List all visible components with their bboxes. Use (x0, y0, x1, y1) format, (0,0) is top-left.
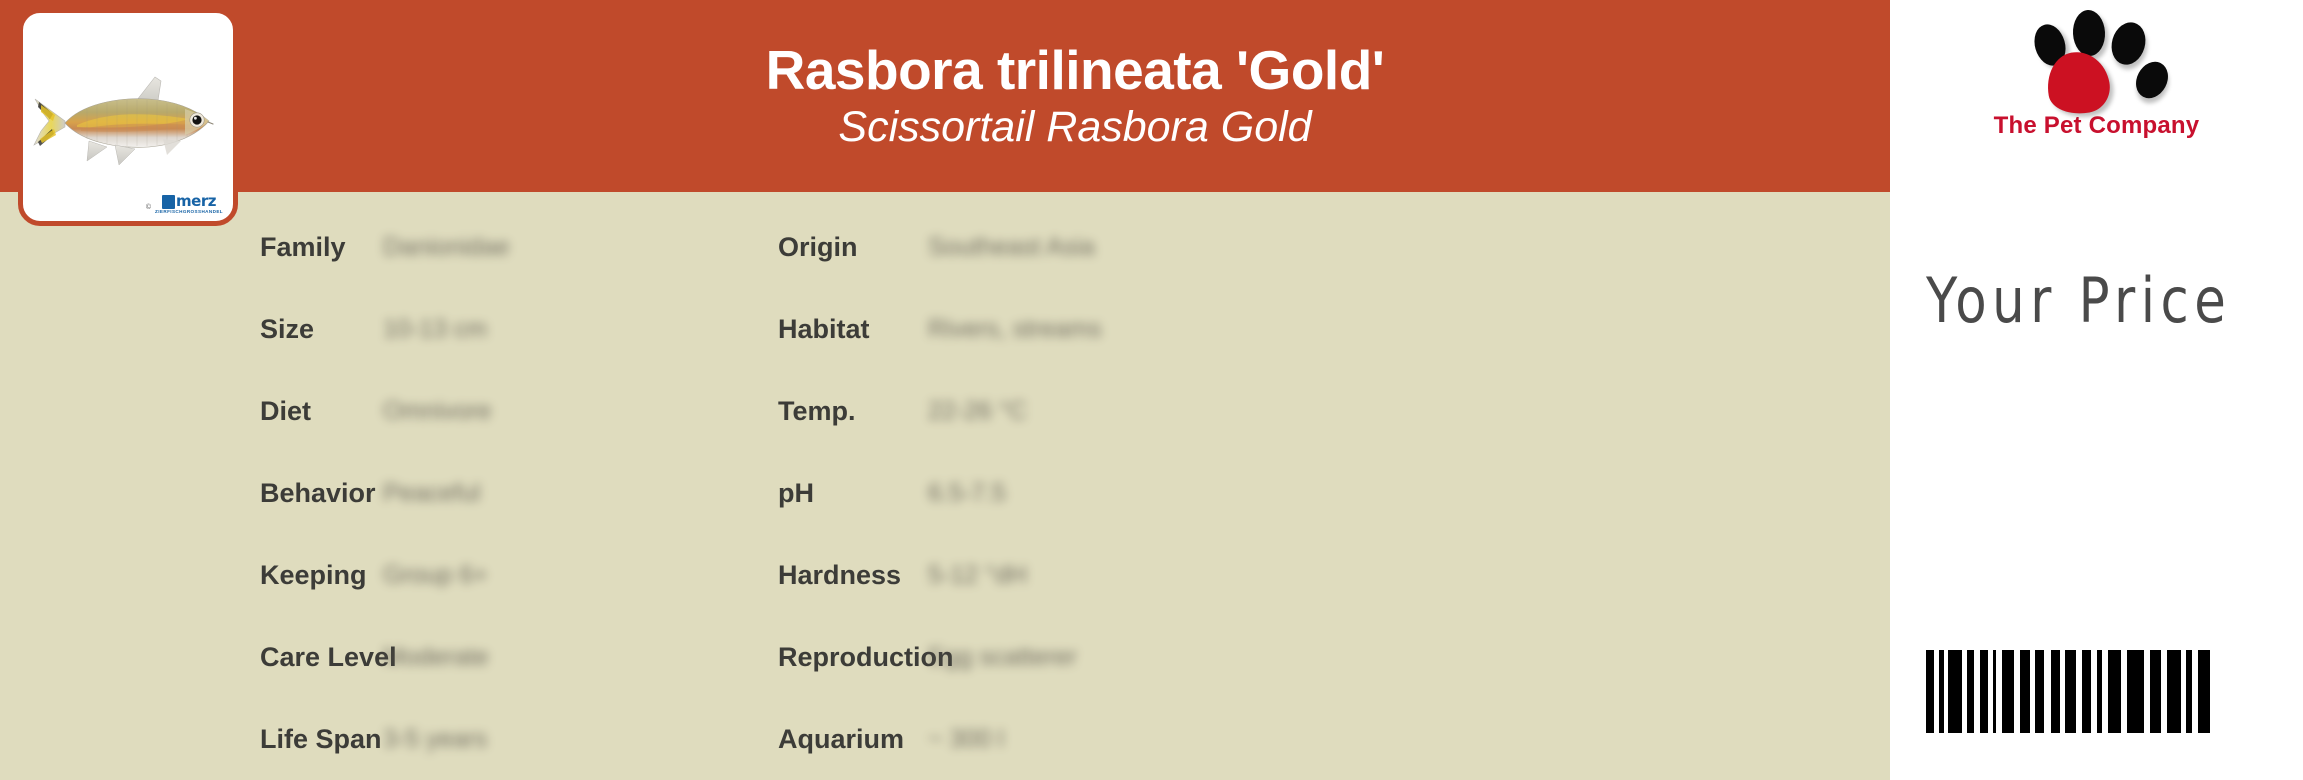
barcode-bar (2065, 650, 2076, 733)
barcode-bar (2035, 650, 2044, 733)
brand-name: The Pet Company (1994, 112, 2200, 140)
fish-info-label: Rasbora trilineata 'Gold' Scissortail Ra… (0, 0, 2303, 780)
barcode-bar (2108, 650, 2121, 733)
attribute-value-ph: 6.5-7.5 (928, 481, 1006, 506)
merz-logo-icon (162, 195, 175, 209)
barcode-bar (2051, 650, 2060, 733)
barcode-bar (2002, 650, 2014, 733)
attribute-row-reproduction: Reproduction Egg scatterer (778, 616, 1538, 698)
attribute-label-habitat: Habitat (778, 316, 903, 343)
attribute-label-care-level: Care Level (260, 644, 397, 671)
barcode-bar (2020, 650, 2030, 733)
brand-logo: The Pet Company (1890, 4, 2303, 164)
your-price-heading: Your Price (1926, 264, 2231, 337)
attribute-grid: Family Danionidae Size 10-13 cm Diet Omn… (260, 192, 1890, 780)
paw-print-icon (2017, 4, 2177, 116)
merz-subtitle: ZIERFISCHGROSSHANDEL (155, 210, 223, 215)
merz-wordmark: merz (176, 194, 216, 209)
attribute-label-behavior: Behavior (260, 480, 385, 507)
common-name: Scissortail Rasbora Gold (838, 103, 1311, 151)
attribute-label-origin: Origin (778, 234, 903, 261)
attribute-value-hardness: 5-12 °dH (928, 563, 1027, 588)
attribute-label-ph: pH (778, 480, 903, 507)
attribute-label-family: Family (260, 234, 385, 261)
attribute-value-origin: Southeast Asia (928, 235, 1095, 260)
main-info-region: Rasbora trilineata 'Gold' Scissortail Ra… (0, 0, 1890, 780)
attribute-label-hardness: Hardness (778, 562, 903, 589)
barcode-bar (2167, 650, 2181, 733)
attribute-value-care-level: Moderate (383, 645, 489, 670)
scientific-name: Rasbora trilineata 'Gold' (766, 41, 1385, 99)
attribute-value-reproduction: Egg scatterer (928, 645, 1077, 670)
barcode-bar (2198, 650, 2210, 733)
attribute-label-life-span: Life Span (260, 726, 385, 753)
attribute-value-habitat: Rivers, streams (928, 317, 1102, 342)
attribute-value-keeping: Group 6+ (383, 563, 488, 588)
attribute-value-life-span: 3-5 years (383, 727, 487, 752)
paw-toe (2129, 56, 2173, 104)
attribute-value-family: Danionidae (383, 235, 510, 260)
attribute-value-size: 10-13 cm (383, 317, 487, 342)
attribute-label-temperature: Temp. (778, 398, 903, 425)
merz-watermark: © merz ZIERFISCHGROSSHANDEL (146, 194, 223, 215)
attribute-label-size: Size (260, 316, 385, 343)
attribute-value-diet: Omnivore (383, 399, 491, 424)
attribute-row-habitat: Habitat Rivers, streams (778, 288, 1538, 370)
barcode-bar (2150, 650, 2161, 733)
barcode-bar (2082, 650, 2091, 733)
paw-toe (2071, 9, 2105, 57)
attribute-label-diet: Diet (260, 398, 385, 425)
price-panel: The Pet Company Your Price (1890, 0, 2303, 780)
paw-toe (2106, 18, 2150, 68)
barcode-space (2044, 650, 2051, 733)
barcode-bar (1948, 650, 1962, 733)
attribute-row-temperature: Temp. 22-26 °C (778, 370, 1538, 452)
barcode-bar (2127, 650, 2144, 733)
attribute-value-aquarium: ~ 300 l (928, 727, 1004, 752)
attribute-row-aquarium: Aquarium ~ 300 l (778, 698, 1538, 780)
attribute-value-behavior: Peaceful (383, 481, 480, 506)
fish-photo-card[interactable]: © merz ZIERFISCHGROSSHANDEL (18, 8, 238, 226)
attribute-value-temperature: 22-26 °C (928, 399, 1027, 424)
barcode-bar (1980, 650, 1988, 733)
attribute-row-ph: pH 6.5-7.5 (778, 452, 1538, 534)
attribute-label-keeping: Keeping (260, 562, 385, 589)
copyright-symbol: © (146, 204, 151, 211)
barcode-bar (1967, 650, 1974, 733)
attribute-row-origin: Origin Southeast Asia (778, 206, 1538, 288)
attribute-label-aquarium: Aquarium (778, 726, 904, 753)
attribute-row-hardness: Hardness 5-12 °dH (778, 534, 1538, 616)
barcode-bar (1926, 650, 1934, 733)
header-title-block: Rasbora trilineata 'Gold' Scissortail Ra… (260, 0, 1890, 192)
attribute-column-right: Origin Southeast Asia Habitat Rivers, st… (778, 192, 1538, 780)
fish-illustration (29, 69, 229, 179)
barcode (1926, 650, 2210, 733)
